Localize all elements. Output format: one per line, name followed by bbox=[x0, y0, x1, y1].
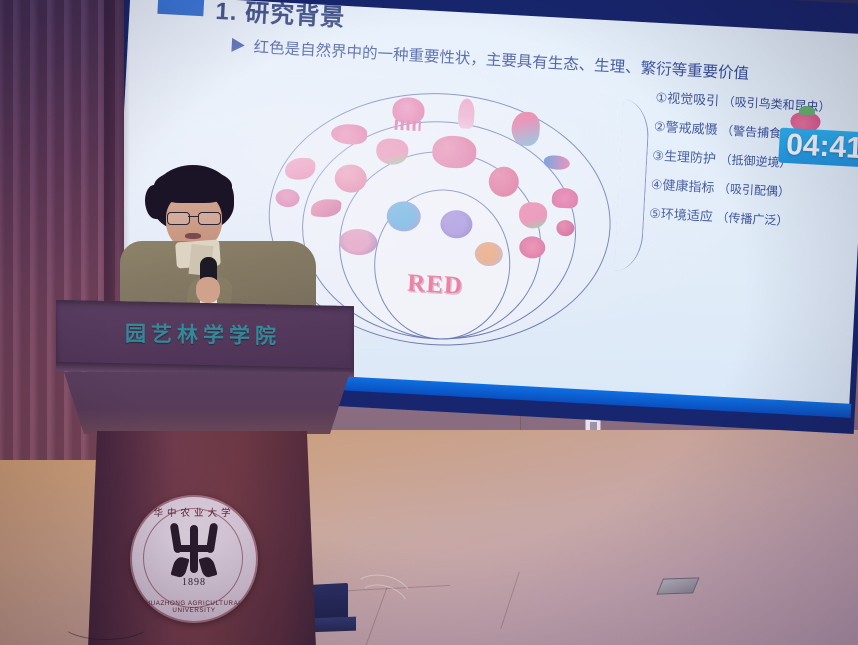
list-item-label: ④健康指标 bbox=[650, 177, 714, 195]
list-item-label: ⑤环境适应 bbox=[649, 206, 713, 224]
list-item: ①视觉吸引 （吸引鸟类和昆虫） bbox=[655, 91, 858, 115]
list-item: ⑤环境适应 （传播广泛） bbox=[649, 207, 858, 231]
slide-decoration-rect bbox=[157, 0, 205, 16]
glasses-icon bbox=[167, 212, 221, 223]
timer-value: 04:41 bbox=[785, 128, 858, 165]
slide-bullet-row: 红色是自然界中的一种重要性状，主要具有生态、生理、繁衍等重要价值 bbox=[231, 34, 749, 84]
slide-bullet-text: 红色是自然界中的一种重要性状，主要具有生态、生理、繁衍等重要价值 bbox=[253, 35, 749, 84]
floor-outlet-plate bbox=[656, 577, 699, 594]
emblem-glyph-icon bbox=[172, 523, 216, 575]
curly-brace-icon bbox=[614, 99, 650, 272]
emblem-chinese-name: 华中农业大学 bbox=[132, 505, 256, 519]
presenter-hand bbox=[196, 277, 220, 303]
parrot-icon bbox=[511, 111, 541, 146]
timer-badge: 04:41 bbox=[778, 128, 858, 168]
lectern-department-text: 园艺林学学院 bbox=[100, 317, 306, 351]
berries-icon bbox=[431, 135, 477, 169]
emblem-english-name: HUAZHONG AGRICULTURAL UNIVERSITY bbox=[132, 600, 256, 614]
lectern-mid-panel bbox=[64, 372, 350, 434]
list-item-label: ②警戒威慑 bbox=[654, 119, 718, 137]
slide-title: 1. 研究背景 bbox=[215, 0, 346, 33]
list-item-label: ③生理防护 bbox=[652, 148, 716, 166]
university-emblem: 华中农业大学 1898 HUAZHONG AGRICULTURAL UNIVER… bbox=[130, 495, 258, 623]
presenter-mouth bbox=[185, 233, 201, 239]
lectern: 园艺林学学院 华中农业大学 1898 HUAZHONG AGRICULTURAL… bbox=[52, 303, 358, 645]
list-item-note: （传播广泛） bbox=[716, 210, 789, 228]
butterfly-icon bbox=[551, 187, 578, 208]
list-item-note: （吸引配偶） bbox=[718, 181, 791, 199]
lecture-hall-photo: 1. 研究背景 红色是自然界中的一种重要性状，主要具有生态、生理、繁衍等重要价值 bbox=[0, 0, 858, 645]
countdown-timer: 04:41 bbox=[778, 128, 858, 168]
octopus-icon bbox=[392, 97, 425, 125]
list-item-label: ①视觉吸引 bbox=[655, 90, 719, 108]
arrow-bullet-icon bbox=[231, 38, 245, 53]
flamingo-icon bbox=[458, 98, 476, 129]
list-item: ④健康指标 （吸引配偶） bbox=[651, 178, 858, 202]
presenter-fringe bbox=[154, 169, 232, 203]
floor-cable bbox=[60, 604, 152, 640]
benefits-list: ①视觉吸引 （吸引鸟类和昆虫） ②警戒威慑 （警告捕食者） ③生理防护 （抵御逆… bbox=[648, 91, 858, 247]
emblem-founding-year: 1898 bbox=[132, 577, 256, 588]
